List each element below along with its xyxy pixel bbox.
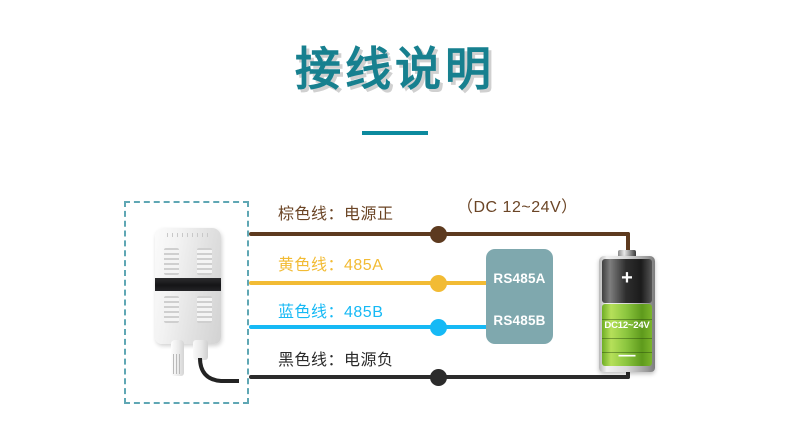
battery-segment-line-2 — [602, 338, 652, 339]
wire-node-blue — [430, 319, 447, 336]
device-vent-bottom-right — [197, 296, 212, 323]
rs485-port-a-label: RS485A — [486, 272, 553, 286]
device-cable-gland — [193, 340, 208, 360]
wire-node-black — [430, 369, 447, 386]
title-divider — [362, 131, 428, 135]
wire-label-brown: 棕色线：电源正 — [278, 207, 394, 223]
battery-minus-sign: — — [599, 346, 655, 363]
device-vent-top-right — [197, 248, 212, 275]
wire-label-blue: 蓝色线：485B — [278, 305, 383, 321]
battery-voltage-label: DC12~24V — [599, 321, 655, 331]
wire-line-yellow — [249, 281, 492, 285]
device-vent-bottom-left — [164, 296, 179, 323]
battery-image: + DC12~24V — — [599, 250, 655, 372]
wire-line-blue — [249, 325, 492, 329]
voltage-note: （DC 12~24V） — [457, 200, 578, 216]
wire-label-yellow: 黄色线：485A — [278, 258, 383, 274]
wiring-instructions-page: 接线说明 棕色线：电源正 （DC 12~24V） 黄色线：485A 蓝色线：48… — [0, 0, 790, 446]
device-probe-slots — [173, 354, 182, 374]
wire-label-black: 黑色线：电源负 — [278, 353, 394, 369]
rs485-port-b-label: RS485B — [486, 314, 553, 328]
wire-node-yellow — [430, 275, 447, 292]
device-top-slots — [167, 233, 209, 237]
battery-plus-sign: + — [599, 268, 655, 288]
wire-node-brown — [430, 226, 447, 243]
device-black-band — [155, 278, 221, 291]
rs485-terminal-box: RS485A RS485B — [486, 249, 553, 344]
device-vent-top-left — [164, 248, 179, 275]
device-cable — [195, 358, 239, 384]
sensor-device-image — [155, 228, 221, 348]
page-title: 接线说明 — [0, 46, 790, 92]
